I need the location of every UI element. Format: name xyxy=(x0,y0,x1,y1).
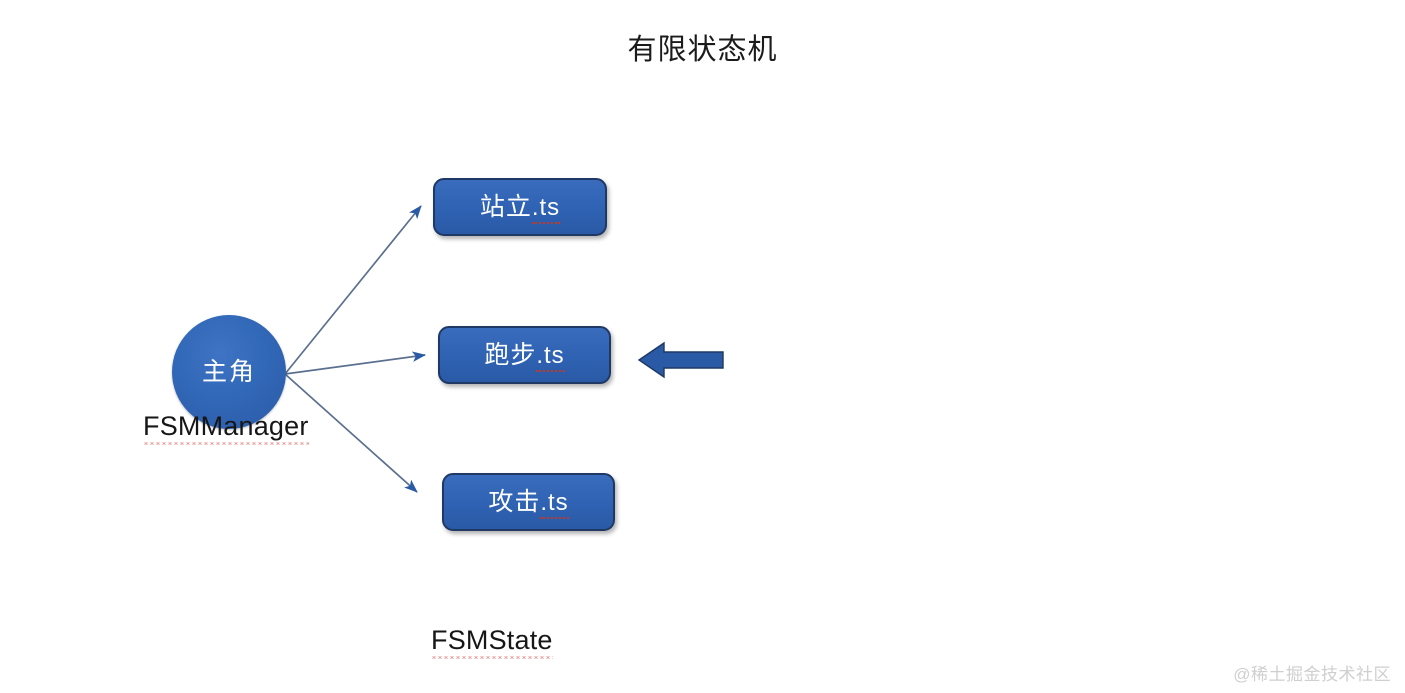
state-box-stand-extension: .ts xyxy=(532,194,560,224)
state-box-stand[interactable]: 站立.ts xyxy=(433,178,607,236)
state-box-run-extension: .ts xyxy=(536,342,564,372)
diagram-canvas: 有限状态机 主角 FSMManager 站立.ts 跑步.ts 攻击.ts xyxy=(0,0,1405,693)
state-box-run-name: 跑步 xyxy=(484,341,536,369)
fsmstate-annotation-text: FSMState xyxy=(431,625,553,659)
page-title: 有限状态机 xyxy=(0,33,1405,68)
node-main-character-label: 主角 xyxy=(202,360,256,385)
watermark: @稀土掘金技术社区 xyxy=(1233,660,1391,685)
state-box-attack-label: 攻击.ts xyxy=(488,490,568,515)
state-box-stand-name: 站立 xyxy=(480,193,532,221)
state-box-attack[interactable]: 攻击.ts xyxy=(442,473,615,531)
edge-center-to-run xyxy=(285,355,425,374)
thick-left-arrow-icon xyxy=(638,338,724,382)
state-box-stand-label: 站立.ts xyxy=(480,195,560,220)
state-box-attack-name: 攻击 xyxy=(488,488,540,516)
state-box-attack-extension: .ts xyxy=(540,489,568,519)
fsmmanager-annotation: FSMManager xyxy=(143,413,309,440)
fsmstate-annotation: FSMState xyxy=(431,627,553,654)
state-box-run-label: 跑步.ts xyxy=(484,343,564,368)
fsmmanager-annotation-text: FSMManager xyxy=(143,411,309,445)
edge-center-to-stand xyxy=(285,206,421,374)
state-box-run[interactable]: 跑步.ts xyxy=(438,326,611,384)
